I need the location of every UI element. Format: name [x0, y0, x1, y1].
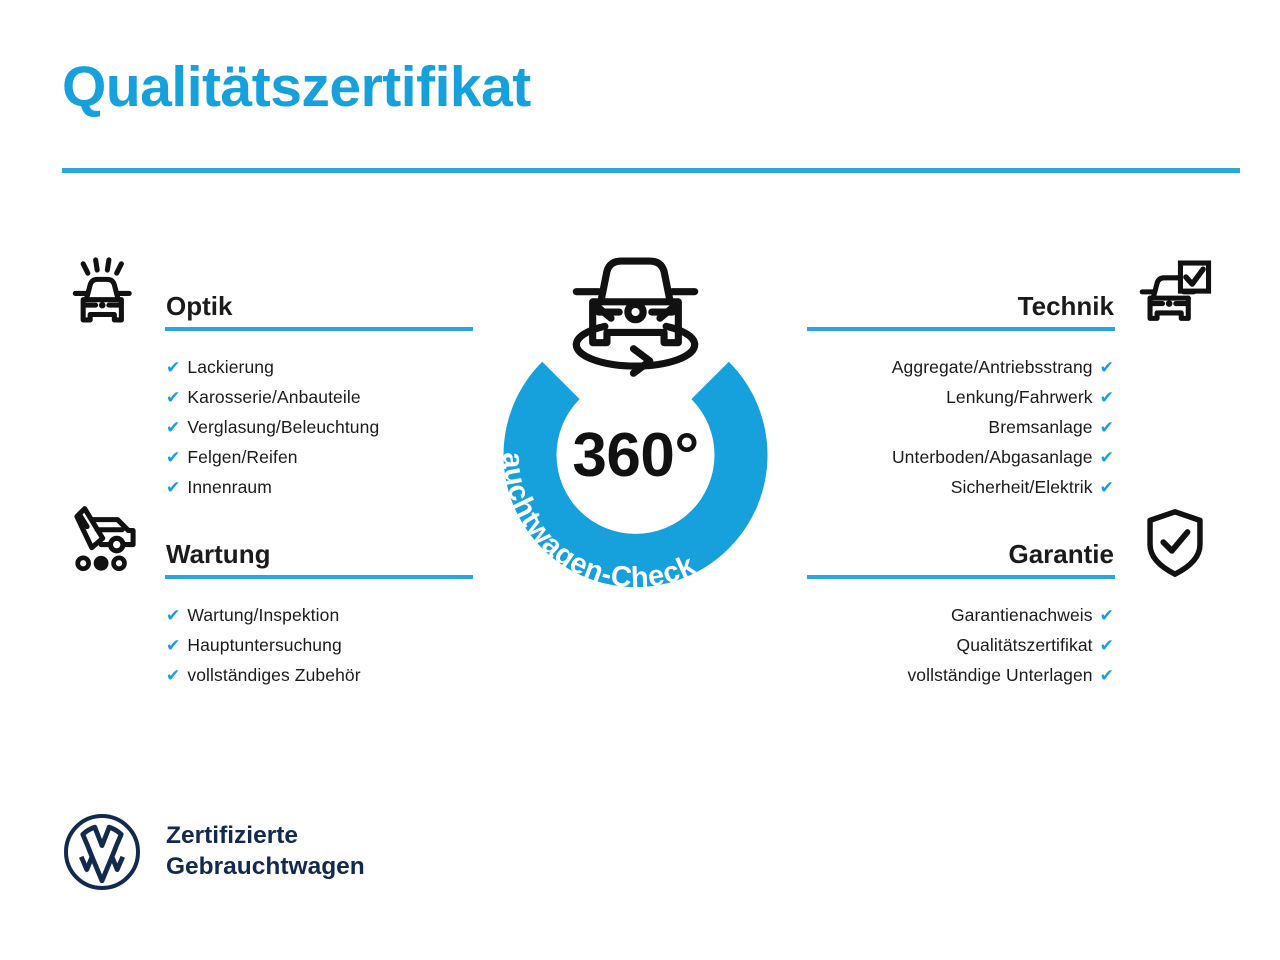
list-item-label: vollständige Unterlagen	[907, 660, 1092, 690]
vw-brand-lockup: Zertifizierte Gebrauchtwagen	[62, 812, 365, 892]
title-divider	[62, 168, 1240, 173]
section-technik-list: Aggregate/Antriebsstrang ✔ Lenkung/Fahrw…	[800, 352, 1220, 502]
section-garantie-header: Garantie	[800, 510, 1220, 600]
check-icon: ✔	[1100, 667, 1114, 684]
certificate-page: Qualitätszertifikat	[0, 0, 1280, 960]
list-item-label: Lenkung/Fahrwerk	[946, 382, 1093, 412]
list-item-label: Unterboden/Abgasanlage	[892, 442, 1093, 472]
shield-check-icon	[1136, 504, 1214, 582]
check-icon: ✔	[166, 389, 180, 406]
section-optik-header: Optik	[60, 262, 475, 352]
section-garantie-underline	[807, 575, 1115, 579]
list-item: Qualitätszertifikat ✔	[800, 630, 1220, 660]
section-technik-title: Technik	[1018, 291, 1114, 322]
check-icon: ✔	[1100, 359, 1114, 376]
section-optik-title: Optik	[166, 291, 232, 322]
check-icon: ✔	[1100, 449, 1114, 466]
vw-lockup-line-2: Gebrauchtwagen	[166, 852, 365, 883]
section-technik: Technik Aggregate/Antriebsstrang ✔ Lenku…	[800, 262, 1220, 502]
list-item-label: Hauptuntersuchung	[187, 630, 341, 660]
list-item: ✔ Lackierung	[60, 352, 475, 382]
badge-center-label: 360°	[572, 421, 698, 490]
list-item: ✔ vollständiges Zubehör	[60, 660, 475, 690]
check-icon: ✔	[1100, 607, 1114, 624]
check-icon: ✔	[1100, 637, 1114, 654]
car-pencil-service-icon	[66, 504, 144, 582]
list-item-label: Verglasung/Beleuchtung	[187, 412, 379, 442]
section-wartung-header: Wartung	[60, 510, 475, 600]
section-optik-underline	[165, 327, 473, 331]
check-icon: ✔	[1100, 389, 1114, 406]
check-icon: ✔	[166, 479, 180, 496]
list-item: ✔ Wartung/Inspektion	[60, 600, 475, 630]
list-item-label: Wartung/Inspektion	[187, 600, 339, 630]
list-item: Aggregate/Antriebsstrang ✔	[800, 352, 1220, 382]
list-item-label: Qualitätszertifikat	[957, 630, 1093, 660]
list-item-label: Lackierung	[187, 352, 274, 382]
check-icon: ✔	[1100, 419, 1114, 436]
list-item: Unterboden/Abgasanlage ✔	[800, 442, 1220, 472]
section-technik-header: Technik	[800, 262, 1220, 352]
check-icon: ✔	[166, 607, 180, 624]
list-item-label: Sicherheit/Elektrik	[951, 472, 1093, 502]
section-garantie: Garantie Garantienachweis ✔ Qualitätszer…	[800, 510, 1220, 690]
list-item-label: Felgen/Reifen	[187, 442, 297, 472]
vw-logo	[62, 812, 142, 892]
list-item-label: vollständiges Zubehör	[187, 660, 360, 690]
section-wartung: Wartung ✔ Wartung/Inspektion ✔ Hauptunte…	[60, 510, 475, 690]
list-item: ✔ Felgen/Reifen	[60, 442, 475, 472]
list-item: ✔ Karosserie/Anbauteile	[60, 382, 475, 412]
section-wartung-title: Wartung	[166, 539, 270, 570]
list-item: ✔ Hauptuntersuchung	[60, 630, 475, 660]
check-icon: ✔	[166, 637, 180, 654]
check-icon: ✔	[166, 449, 180, 466]
list-item: vollständige Unterlagen ✔	[800, 660, 1220, 690]
page-title: Qualitätszertifikat	[62, 56, 531, 119]
list-item-label: Bremsanlage	[988, 412, 1092, 442]
section-garantie-list: Garantienachweis ✔ Qualitätszertifikat ✔…	[800, 600, 1220, 690]
check-icon: ✔	[166, 667, 180, 684]
car-checkbox-icon	[1136, 256, 1214, 334]
list-item-label: Aggregate/Antriebsstrang	[892, 352, 1093, 382]
section-wartung-list: ✔ Wartung/Inspektion ✔ Hauptuntersuchung…	[60, 600, 475, 690]
list-item: Bremsanlage ✔	[800, 412, 1220, 442]
list-item: Lenkung/Fahrwerk ✔	[800, 382, 1220, 412]
car-front-rotation-icon	[576, 261, 694, 373]
section-optik-list: ✔ Lackierung ✔ Karosserie/Anbauteile ✔ V…	[60, 352, 475, 502]
section-wartung-underline	[165, 575, 473, 579]
section-garantie-title: Garantie	[1009, 539, 1115, 570]
badge-360-gebrauchtwagen-check: Gebrauchtwagen-Check 360°	[468, 248, 803, 623]
check-icon: ✔	[166, 359, 180, 376]
list-item-label: Innenraum	[187, 472, 272, 502]
list-item: Garantienachweis ✔	[800, 600, 1220, 630]
vw-lockup-text: Zertifizierte Gebrauchtwagen	[166, 821, 365, 883]
list-item: Sicherheit/Elektrik ✔	[800, 472, 1220, 502]
check-icon: ✔	[166, 419, 180, 436]
section-technik-underline	[807, 327, 1115, 331]
section-optik: Optik ✔ Lackierung ✔ Karosserie/Anbautei…	[60, 262, 475, 502]
check-icon: ✔	[1100, 479, 1114, 496]
list-item: ✔ Innenraum	[60, 472, 475, 502]
vw-lockup-line-1: Zertifizierte	[166, 821, 365, 852]
list-item-label: Garantienachweis	[951, 600, 1093, 630]
list-item: ✔ Verglasung/Beleuchtung	[60, 412, 475, 442]
list-item-label: Karosserie/Anbauteile	[187, 382, 360, 412]
car-shine-icon	[66, 256, 144, 334]
